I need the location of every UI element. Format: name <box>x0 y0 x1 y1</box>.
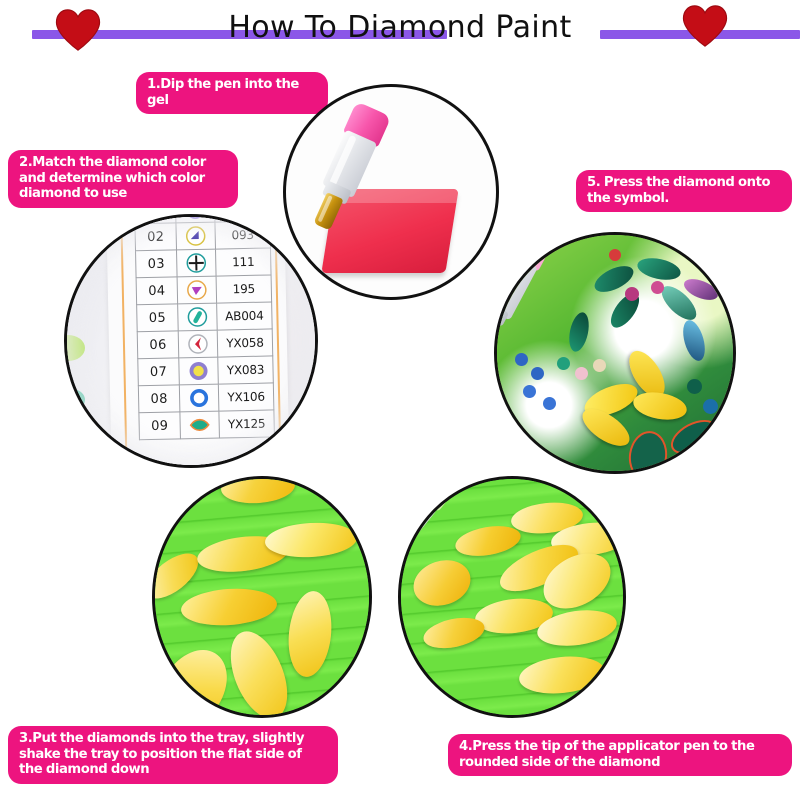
open-ring-symbol <box>188 387 210 409</box>
slash-oval-symbol <box>186 306 208 328</box>
left-chevron-symbol <box>187 333 209 355</box>
cell-code: YX125 <box>219 410 275 438</box>
color-symbol-table: 028 02 093 03 <box>134 214 275 440</box>
canvas-gem <box>523 385 536 398</box>
step-5-photo <box>494 232 736 474</box>
step-2-photo: 028 02 093 03 <box>64 214 318 468</box>
diamond <box>220 623 299 718</box>
canvas-gem <box>651 281 664 294</box>
canvas-gem <box>703 399 718 414</box>
page-header: How To Diamond Paint <box>0 0 800 62</box>
canvas-gem <box>566 311 592 354</box>
step-3-photo <box>152 476 372 718</box>
cell-symbol <box>179 357 219 385</box>
cell-symbol <box>177 249 217 277</box>
cell-code: YX083 <box>218 356 274 384</box>
canvas-gem <box>575 367 588 380</box>
step-2-badge: 2.Match the diamond color and determine … <box>8 150 238 208</box>
step-1-photo <box>283 84 499 300</box>
leaf-symbol <box>188 414 210 436</box>
cell-number: 09 <box>139 412 181 440</box>
cell-number: 04 <box>136 277 178 305</box>
cell-symbol <box>178 303 218 331</box>
diamond-tray <box>401 479 623 715</box>
quarter-triangle-symbol <box>184 225 206 247</box>
filled-dot-symbol <box>187 360 209 382</box>
cell-code: 111 <box>215 248 271 276</box>
page-title: How To Diamond Paint <box>0 10 800 45</box>
cell-code: YX106 <box>218 383 274 411</box>
canvas-gem <box>531 367 544 380</box>
canvas-gem <box>625 287 639 301</box>
cell-code: AB004 <box>217 302 273 330</box>
canvas-symbol-leaf <box>626 429 671 474</box>
table-row: 06 YX058 <box>137 329 273 359</box>
diamond <box>453 521 523 560</box>
cell-number: 03 <box>136 250 178 278</box>
table-row: 07 YX083 <box>138 356 274 386</box>
cell-symbol <box>176 222 216 250</box>
paper-margin-line <box>120 214 128 468</box>
double-eye-symbol <box>184 214 206 220</box>
canvas-gem <box>515 353 528 366</box>
placed-yellow-diamond <box>631 389 689 424</box>
canvas-gem <box>593 359 606 372</box>
canvas-gem <box>557 357 570 370</box>
table-row: 08 YX106 <box>138 383 274 413</box>
cell-symbol <box>180 411 220 439</box>
diamond-canvas <box>497 235 733 471</box>
diamond <box>264 521 358 560</box>
step-3-badge: 3.Put the diamonds into the tray, slight… <box>8 726 338 784</box>
diamond <box>285 589 336 679</box>
canvas-gem <box>679 318 709 364</box>
cell-number: 08 <box>138 385 180 413</box>
step-1-badge: 1.Dip the pen into the gel <box>136 72 328 114</box>
diamond <box>152 637 241 718</box>
canvas-gem <box>543 397 556 410</box>
cell-number: 02 <box>135 223 177 251</box>
table-row: 09 YX125 <box>139 410 275 440</box>
cell-number: 05 <box>137 304 179 332</box>
canvas-gem <box>687 379 702 394</box>
quarter-triangle-symbol <box>186 279 208 301</box>
step-4-badge: 4.Press the tip of the applicator pen to… <box>448 734 792 776</box>
paper-margin-line <box>274 214 282 468</box>
canvas-symbol-leaf <box>665 413 722 461</box>
cell-code: 195 <box>216 275 272 303</box>
plus-cross-symbol <box>185 252 207 274</box>
cell-symbol <box>178 330 218 358</box>
table-row: 03 111 <box>136 248 272 278</box>
cell-symbol <box>179 384 219 412</box>
canvas-gem <box>609 249 621 261</box>
table-row: 04 195 <box>136 275 272 305</box>
diamond <box>408 553 477 613</box>
cell-code: YX058 <box>217 329 273 357</box>
cell-number: 07 <box>138 358 180 386</box>
diamond-tray <box>155 479 369 715</box>
step-5-badge: 5. Press the diamond onto the symbol. <box>576 170 792 212</box>
cell-number: 06 <box>137 331 179 359</box>
chart-photo-background: 028 02 093 03 <box>67 217 315 465</box>
cell-symbol <box>177 276 217 304</box>
table-row: 05 AB004 <box>137 302 273 332</box>
cell-code: 093 <box>215 221 271 249</box>
diamond <box>220 476 296 506</box>
pen-tip <box>313 192 343 230</box>
table-row: 02 093 <box>135 221 271 251</box>
background-blob <box>64 389 85 411</box>
background-blob <box>64 335 85 361</box>
diamond <box>421 613 487 653</box>
step-4-photo <box>398 476 626 718</box>
color-chart-paper: 028 02 093 03 <box>106 214 290 468</box>
applicator-pen <box>494 232 556 360</box>
diamond <box>517 653 606 698</box>
diamond <box>180 586 278 629</box>
canvas-gem <box>635 255 682 284</box>
